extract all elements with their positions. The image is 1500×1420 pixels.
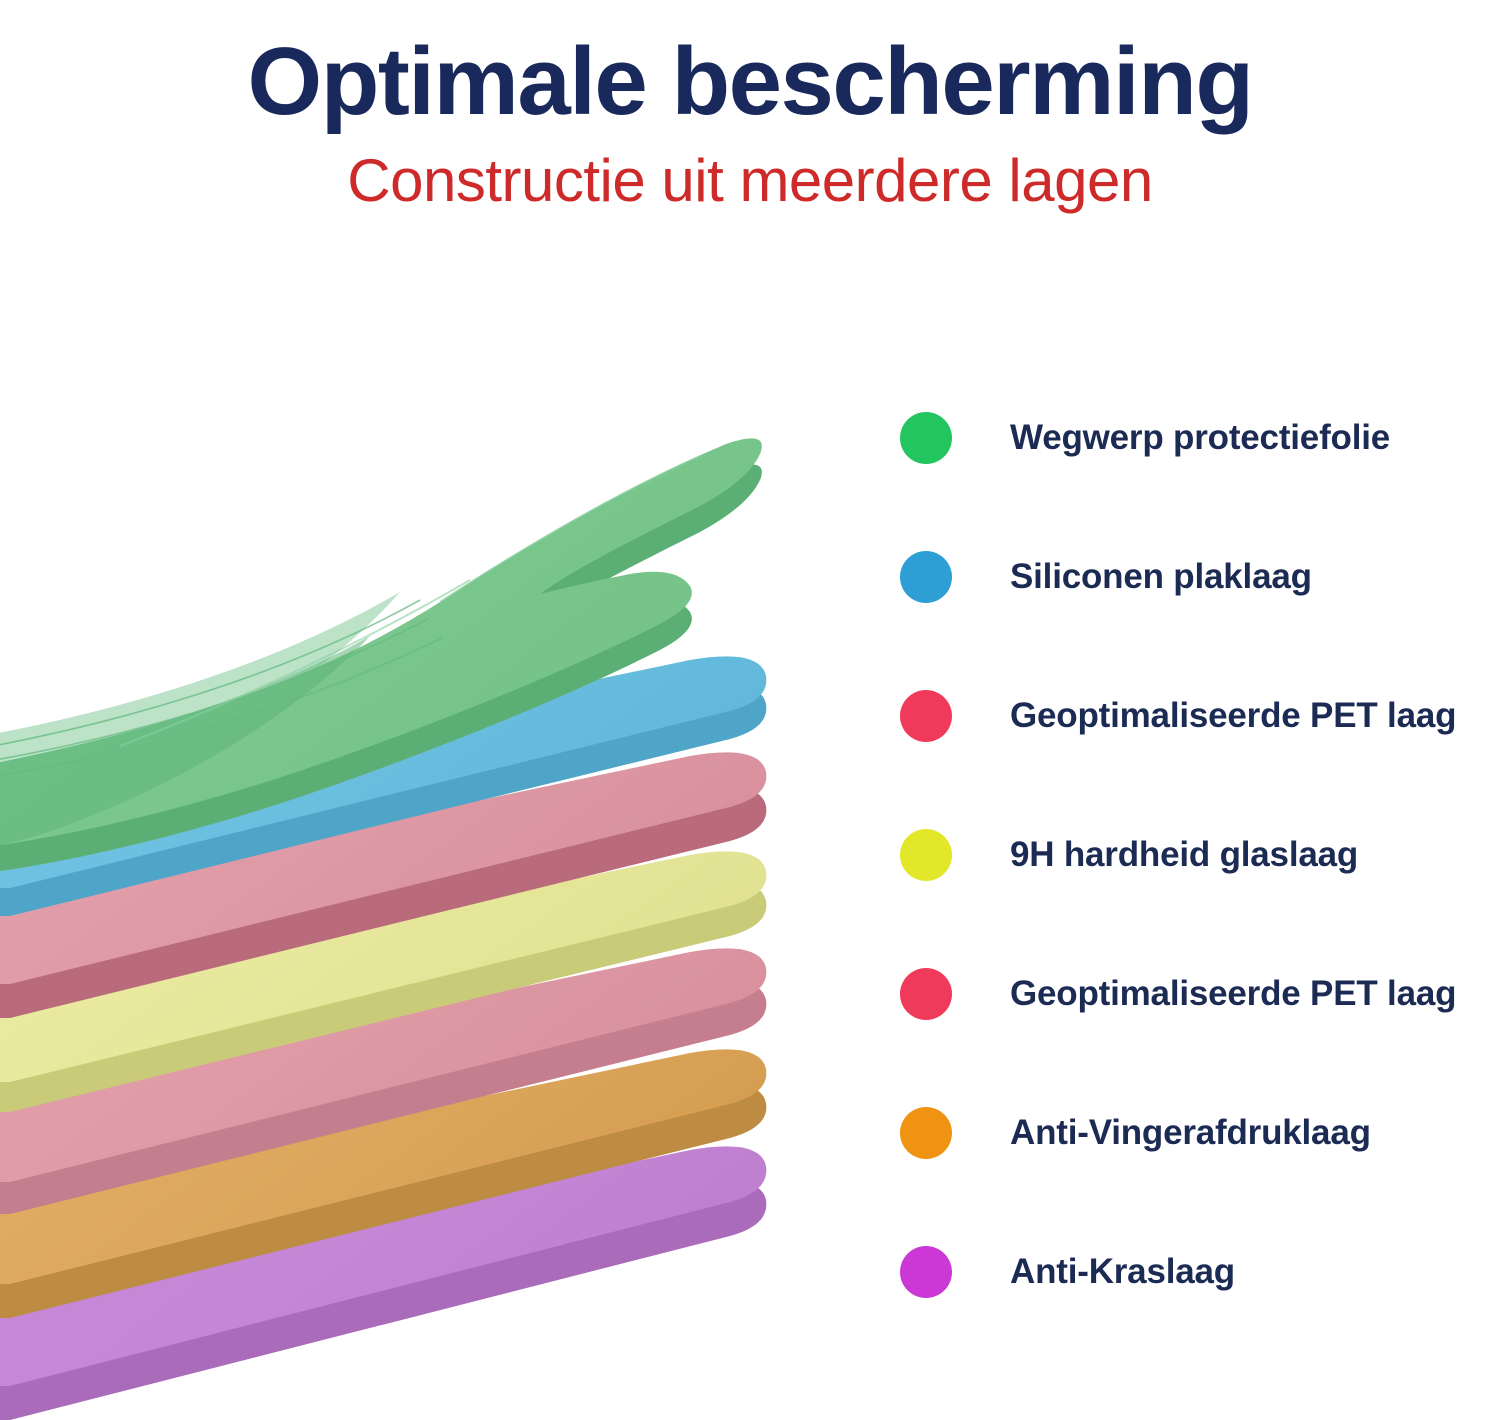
page-subtitle: Constructie uit meerdere lagen xyxy=(0,148,1500,214)
legend-item-pet-laag-onder[interactable]: Geoptimaliseerde PET laag xyxy=(900,924,1490,1063)
page-title: Optimale bescherming xyxy=(0,30,1500,134)
legend-item-label: Anti-Kraslaag xyxy=(1010,1252,1235,1292)
dot-icon xyxy=(900,829,952,881)
legend: Wegwerp protectiefolie Siliconen plaklaa… xyxy=(900,368,1490,1341)
dot-icon xyxy=(900,1107,952,1159)
legend-item-label: Anti-Vingerafdruklaag xyxy=(1010,1113,1371,1153)
dot-icon xyxy=(900,551,952,603)
legend-item-anti-kraslaag[interactable]: Anti-Kraslaag xyxy=(900,1202,1490,1341)
legend-item-label: Wegwerp protectiefolie xyxy=(1010,418,1390,458)
legend-item-label: 9H hardheid glaslaag xyxy=(1010,835,1358,875)
dot-icon xyxy=(900,412,952,464)
legend-item-glaslaag[interactable]: 9H hardheid glaslaag xyxy=(900,785,1490,924)
legend-item-label: Siliconen plaklaag xyxy=(1010,557,1312,597)
legend-item-anti-vingerafdruklaag[interactable]: Anti-Vingerafdruklaag xyxy=(900,1063,1490,1202)
dot-icon xyxy=(900,1246,952,1298)
legend-item-label: Geoptimaliseerde PET laag xyxy=(1010,974,1456,1014)
header: Optimale bescherming Constructie uit mee… xyxy=(0,0,1500,214)
layer-stack-illustration xyxy=(0,300,860,1420)
dot-icon xyxy=(900,968,952,1020)
dot-icon xyxy=(900,690,952,742)
legend-item-wegwerp-protectiefolie[interactable]: Wegwerp protectiefolie xyxy=(900,368,1490,507)
legend-item-label: Geoptimaliseerde PET laag xyxy=(1010,696,1456,736)
legend-item-siliconen-plaklaag[interactable]: Siliconen plaklaag xyxy=(900,507,1490,646)
legend-item-pet-laag-boven[interactable]: Geoptimaliseerde PET laag xyxy=(900,646,1490,785)
layer-stack-svg xyxy=(0,300,860,1420)
